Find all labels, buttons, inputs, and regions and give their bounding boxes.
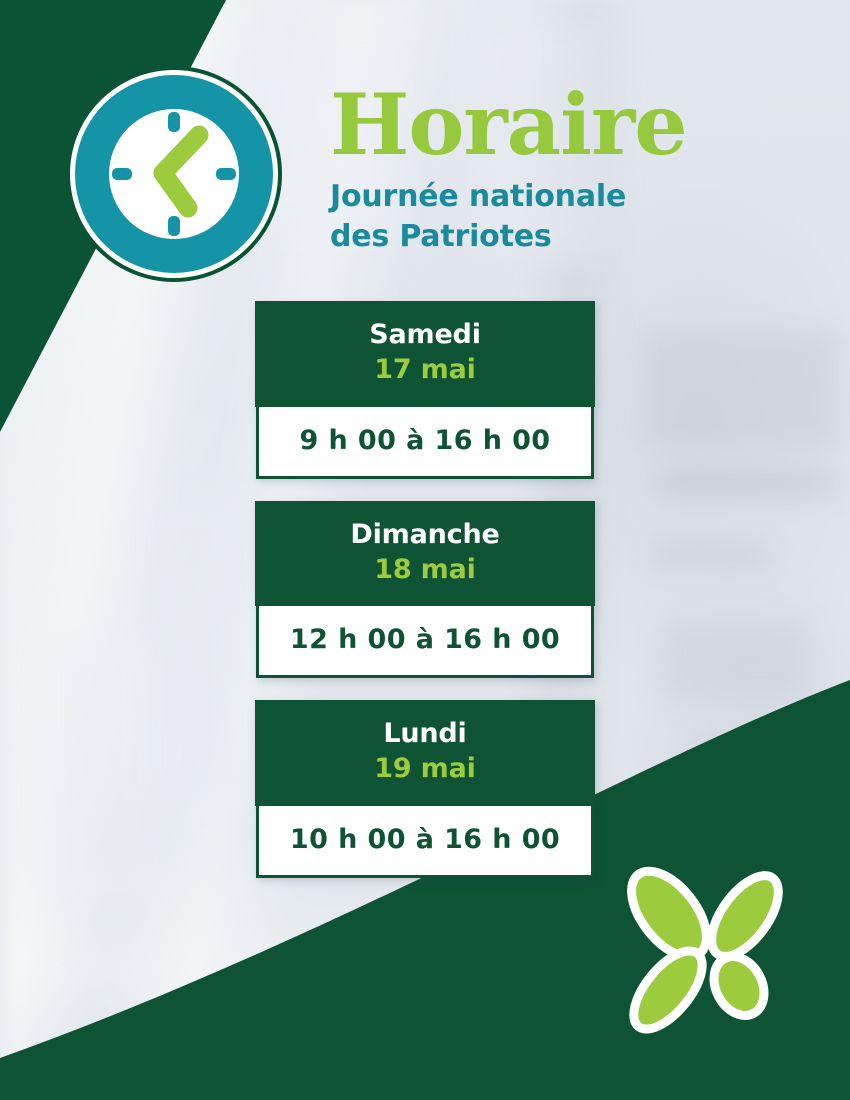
page-title: Horaire: [330, 86, 800, 163]
poster-canvas: Horaire Journée nationale des Patriotes …: [0, 0, 850, 1100]
subtitle-line-2: des Patriotes: [330, 217, 800, 257]
schedule-date-label: 19 mai: [255, 753, 595, 786]
headline-block: Horaire Journée nationale des Patriotes: [330, 86, 800, 257]
schedule-card: Lundi 19 mai 10 h 00 à 16 h 00: [255, 700, 595, 878]
schedule-hours-label: 10 h 00 à 16 h 00: [259, 825, 591, 855]
butterfly-logo-icon: [613, 858, 801, 1046]
clock-icon: [66, 66, 282, 282]
subtitle-line-1: Journée nationale: [330, 177, 800, 217]
schedule-card-header: Samedi 17 mai: [255, 301, 595, 407]
schedule-hours-label: 9 h 00 à 16 h 00: [259, 426, 591, 456]
schedule-day-label: Dimanche: [255, 519, 595, 552]
page-subtitle: Journée nationale des Patriotes: [330, 177, 800, 257]
schedule-card: Samedi 17 mai 9 h 00 à 16 h 00: [255, 301, 595, 479]
schedule-card-body: 9 h 00 à 16 h 00: [256, 407, 594, 479]
schedule-hours-label: 12 h 00 à 16 h 00: [259, 625, 591, 655]
schedule-card-body: 10 h 00 à 16 h 00: [256, 806, 594, 878]
schedule-day-label: Lundi: [255, 718, 595, 751]
schedule-card: Dimanche 18 mai 12 h 00 à 16 h 00: [255, 501, 595, 679]
schedule-card-header: Lundi 19 mai: [255, 700, 595, 806]
schedule-date-label: 17 mai: [255, 354, 595, 387]
schedule-date-label: 18 mai: [255, 554, 595, 587]
schedule-day-label: Samedi: [255, 319, 595, 352]
schedule-card-header: Dimanche 18 mai: [255, 501, 595, 607]
schedule-card-list: Samedi 17 mai 9 h 00 à 16 h 00 Dimanche …: [255, 301, 595, 900]
schedule-card-body: 12 h 00 à 16 h 00: [256, 606, 594, 678]
